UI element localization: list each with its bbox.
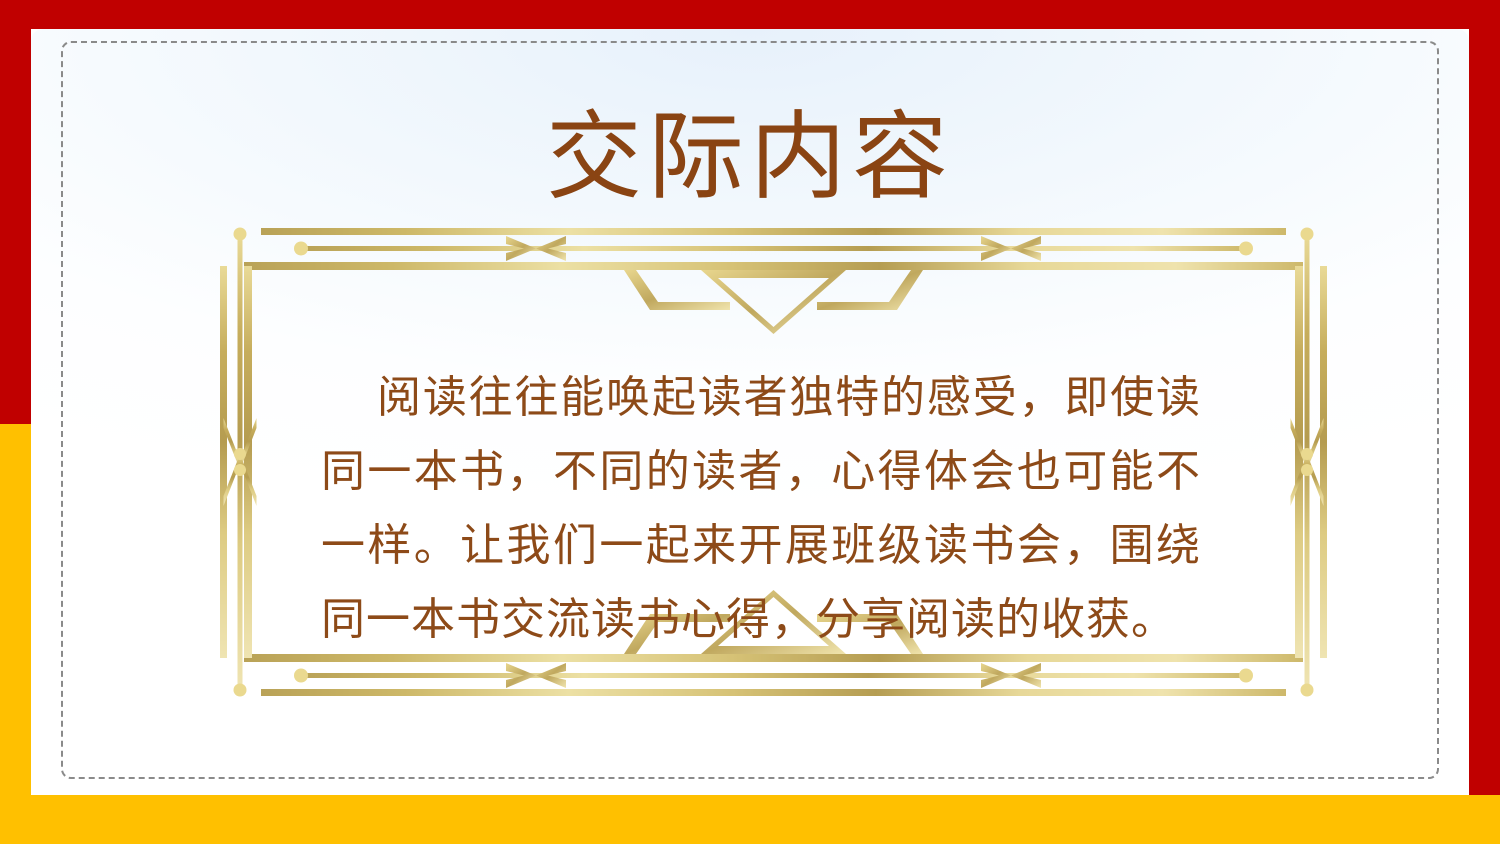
frame-top-center-ornament <box>624 270 923 334</box>
slide-canvas: 交际内容 <box>0 0 1500 844</box>
border-band-red-top <box>0 0 1500 29</box>
border-band-yellow-left <box>0 424 31 844</box>
border-band-red-left <box>0 0 31 424</box>
frame-top-rails <box>244 228 1303 270</box>
page-title: 交际内容 <box>31 109 1469 205</box>
content-panel: 交际内容 <box>31 29 1469 795</box>
border-band-yellow-bottom <box>0 795 1500 844</box>
frame-bottom-rails <box>244 654 1303 696</box>
frame-left-rails <box>220 228 257 697</box>
border-band-red-right <box>1469 0 1500 844</box>
frame-right-rails <box>1291 228 1328 697</box>
body-paragraph: 阅读往往能唤起读者独特的感受，即使读同一本书，不同的读者，心得体会也可能不一样。… <box>321 361 1201 657</box>
